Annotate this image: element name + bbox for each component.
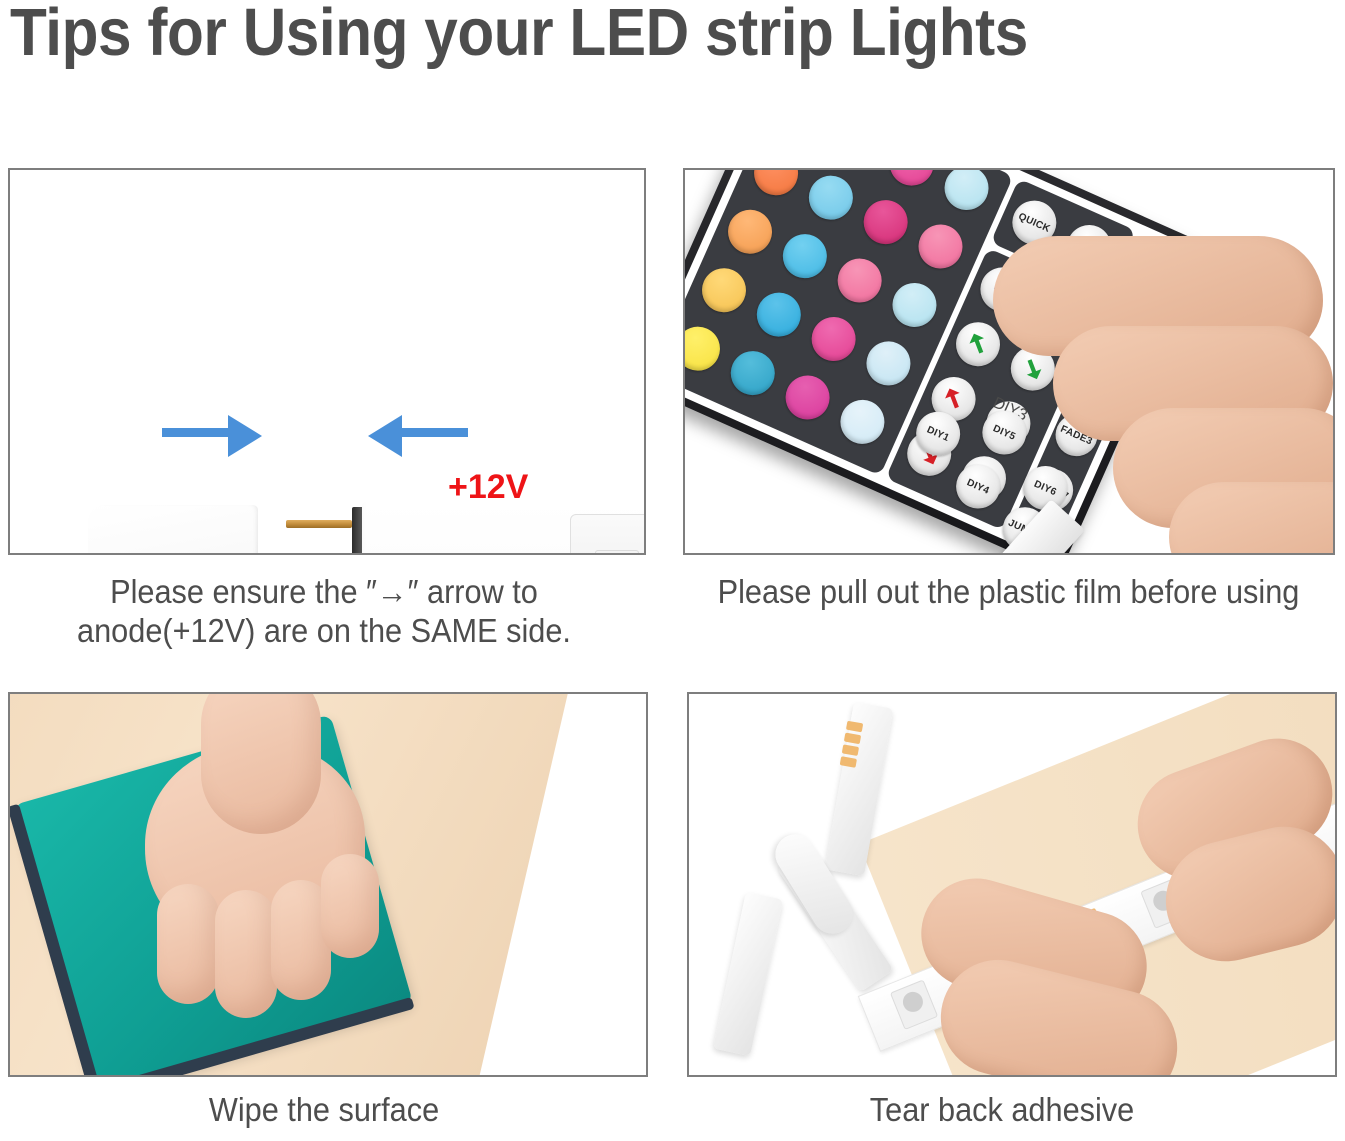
led-chip: [595, 550, 639, 555]
panel-adhesive-image: +12V G R B: [687, 692, 1337, 1077]
color-button[interactable]: [859, 334, 917, 392]
caption-adhesive: Tear back adhesive: [695, 1090, 1309, 1129]
panel-wipe-image: [8, 692, 648, 1077]
adhesive-illustration: +12V G R B: [689, 694, 1335, 1075]
panel-remote-image: QUICK SLOW: [683, 168, 1335, 555]
color-button[interactable]: [911, 217, 969, 275]
remote-illustration: QUICK SLOW: [685, 170, 1333, 553]
connector-plug-body: [88, 505, 258, 555]
color-button[interactable]: [883, 168, 941, 193]
color-button[interactable]: [802, 169, 860, 227]
led-strip-segment: [570, 514, 646, 555]
color-button[interactable]: [747, 168, 805, 202]
power-cable: [8, 553, 92, 555]
color-button[interactable]: [750, 286, 808, 344]
color-button[interactable]: [831, 252, 889, 310]
color-button[interactable]: [805, 310, 863, 368]
caption-adhesive-line1: Tear back adhesive: [695, 1090, 1309, 1129]
connector-illustration: +12V: [10, 170, 644, 553]
page-title: Tips for Using your LED strip Lights: [10, 0, 1212, 72]
color-button[interactable]: [776, 227, 834, 285]
color-button[interactable]: [885, 276, 943, 334]
color-button[interactable]: [779, 368, 837, 426]
color-button[interactable]: [937, 168, 995, 217]
hand-pulling-film: [973, 230, 1335, 555]
caption-wipe-line1: Wipe the surface: [23, 1090, 626, 1129]
caption-connector: Please ensure the ″→″ arrow to anode(+12…: [23, 572, 626, 650]
caption-connector-line1: Please ensure the ″→″ arrow to: [23, 572, 626, 611]
solder-pads: [837, 720, 891, 775]
hand-pressing-strip: [919, 895, 1209, 1077]
color-button[interactable]: [833, 393, 891, 451]
color-button[interactable]: [695, 261, 753, 319]
caption-wipe: Wipe the surface: [23, 1090, 626, 1129]
caption-connector-line2: anode(+12V) are on the SAME side.: [23, 611, 626, 650]
wipe-illustration: [10, 694, 646, 1075]
hand-wiping: [105, 692, 405, 1024]
color-button[interactable]: [683, 320, 727, 378]
color-button[interactable]: [724, 344, 782, 402]
color-button[interactable]: [857, 193, 915, 251]
caption-remote-line1: Please pull out the plastic film before …: [696, 572, 1322, 611]
caption-remote: Please pull out the plastic film before …: [696, 572, 1322, 611]
panel-connector-image: +12V: [8, 168, 646, 555]
voltage-label: +12V: [448, 468, 528, 507]
connector-pin: [286, 520, 352, 528]
color-button[interactable]: [721, 203, 779, 261]
